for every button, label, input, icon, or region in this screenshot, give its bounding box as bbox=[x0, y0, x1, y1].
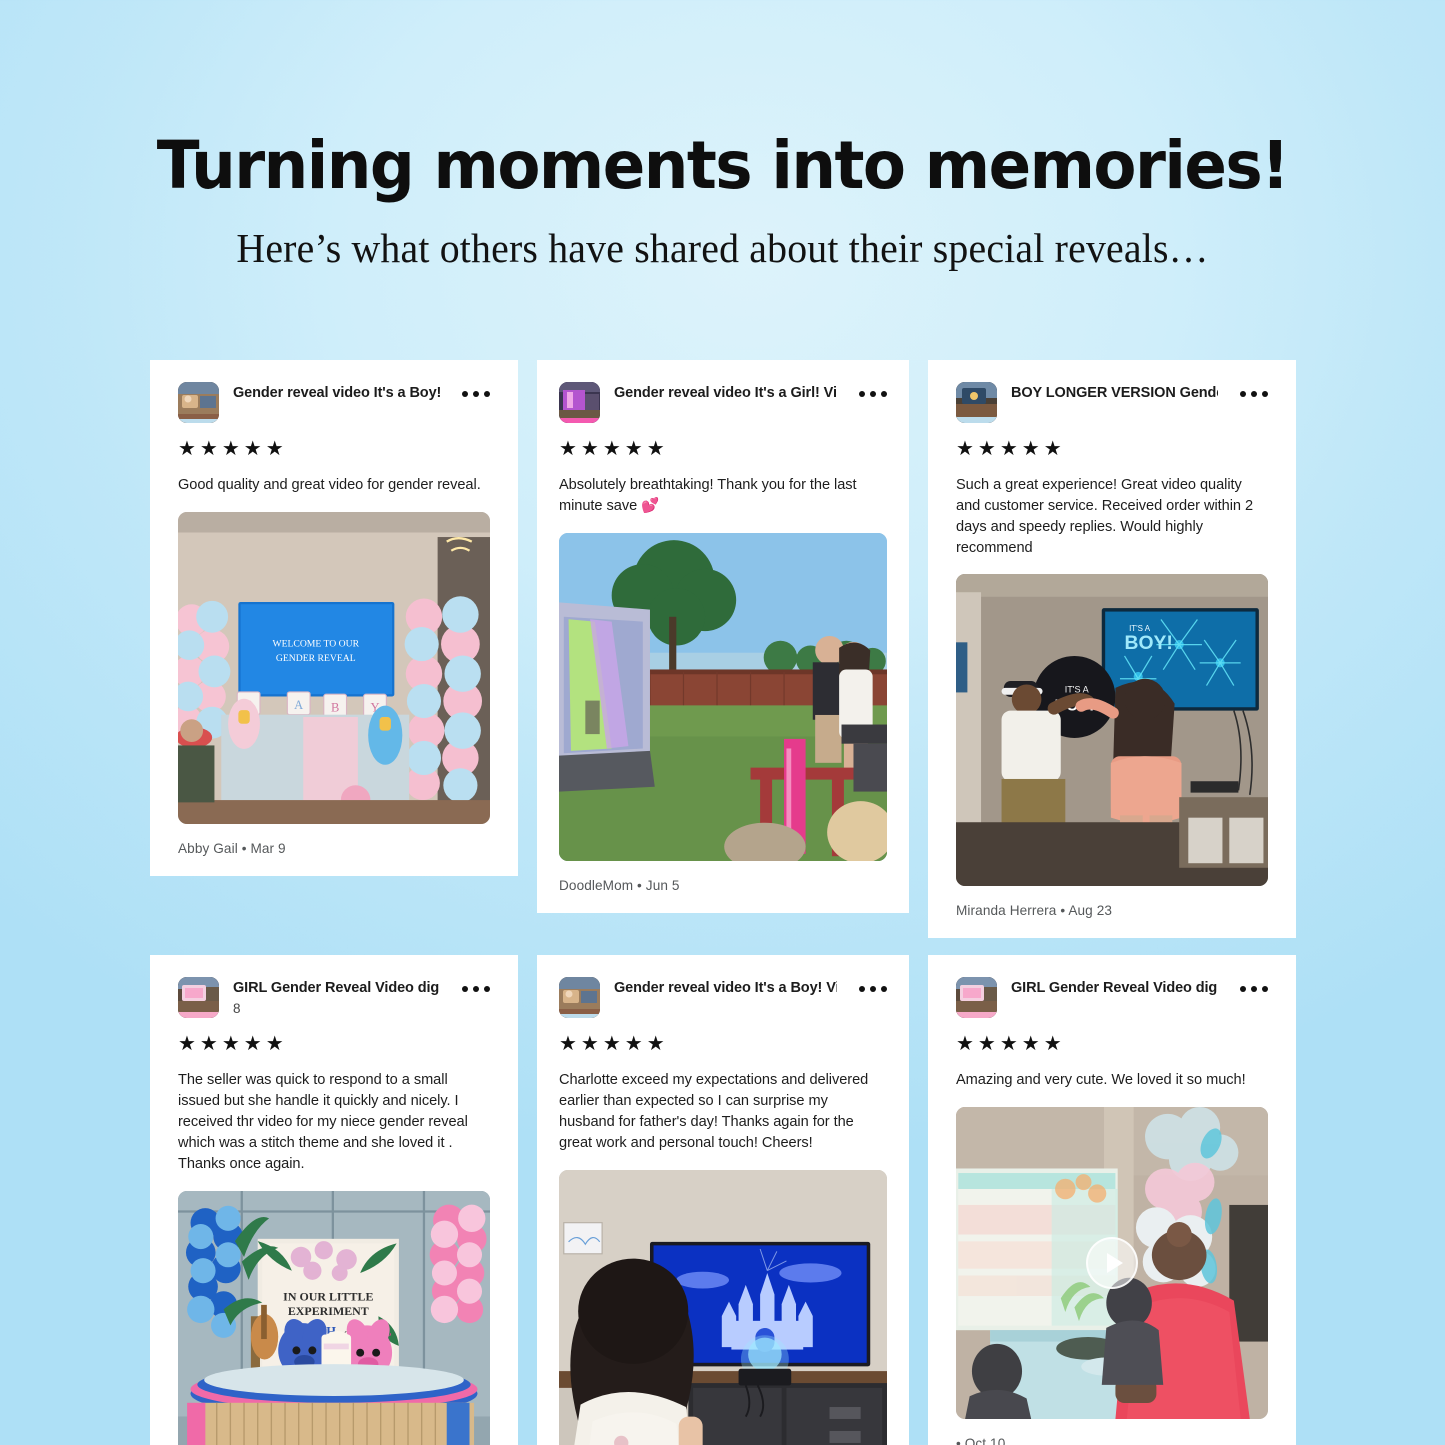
review-byline: • Oct 10 bbox=[956, 1436, 1268, 1445]
listing-thumbnail[interactable] bbox=[956, 382, 997, 423]
review-text: Absolutely breathtaking! Thank you for t… bbox=[559, 475, 887, 517]
more-horizontal-icon[interactable] bbox=[462, 382, 490, 397]
review-card-header: BOY LONGER VERSION Gender … bbox=[956, 382, 1268, 423]
rating-stars: ★★★★★ bbox=[559, 439, 887, 459]
listing-thumbnail[interactable] bbox=[178, 977, 219, 1018]
listing-info: Gender reveal video It's a Boy! Vide… bbox=[614, 977, 837, 996]
rating-stars: ★★★★★ bbox=[956, 439, 1268, 459]
review-photo[interactable]: WELCOME TO OUR GENDER REVEAL bbox=[178, 512, 490, 824]
reviews-grid: Gender reveal video It's a Boy! Vide… ★★… bbox=[150, 360, 1296, 1445]
more-horizontal-icon[interactable] bbox=[1240, 977, 1268, 992]
listing-thumbnail-image bbox=[559, 977, 600, 1018]
listing-info: Gender reveal video It's a Boy! Vide… bbox=[233, 382, 440, 401]
listing-thumbnail[interactable] bbox=[559, 382, 600, 423]
page-title: Turning moments into memories! bbox=[36, 131, 1409, 201]
review-card[interactable]: GIRL Gender Reveal Video digital … 8 ★★★… bbox=[150, 955, 518, 1445]
listing-title: GIRL Gender Reveal Video digital … bbox=[233, 980, 440, 996]
review-photo[interactable] bbox=[559, 533, 887, 861]
rating-stars: ★★★★★ bbox=[178, 439, 490, 459]
review-card[interactable]: Gender reveal video It's a Boy! Vide… ★★… bbox=[537, 955, 909, 1445]
svg-text:WELCOME TO OUR: WELCOME TO OUR bbox=[272, 638, 359, 649]
listing-info: GIRL Gender Reveal Video digital … 8 bbox=[233, 977, 440, 1016]
review-card-header: GIRL Gender Reveal Video digital … 8 bbox=[178, 977, 490, 1018]
review-text: Good quality and great video for gender … bbox=[178, 475, 490, 496]
review-text: Such a great experience! Great video qua… bbox=[956, 475, 1268, 558]
review-photo[interactable]: IT'S A BOY! IT'S A BOY! bbox=[956, 574, 1268, 886]
svg-text:BOY!: BOY! bbox=[1125, 633, 1173, 655]
review-card-header: Gender reveal video It's a Boy! Vide… bbox=[178, 382, 490, 423]
page-header: Turning moments into memories! Here’s wh… bbox=[0, 0, 1445, 271]
listing-thumbnail-image bbox=[559, 382, 600, 423]
more-horizontal-icon[interactable] bbox=[1240, 382, 1268, 397]
listing-title: BOY LONGER VERSION Gender … bbox=[1011, 385, 1218, 401]
review-card[interactable]: Gender reveal video It's a Boy! Vide… ★★… bbox=[150, 360, 518, 876]
svg-text:IT'S A: IT'S A bbox=[1065, 685, 1090, 695]
svg-text:B: B bbox=[331, 700, 339, 714]
more-horizontal-icon[interactable] bbox=[859, 977, 887, 992]
listing-thumbnail[interactable] bbox=[178, 382, 219, 423]
svg-text:GENDER REVEAL: GENDER REVEAL bbox=[276, 653, 356, 664]
listing-info: BOY LONGER VERSION Gender … bbox=[1011, 382, 1218, 401]
review-card[interactable]: Gender reveal video It's a Girl! Vide… ★… bbox=[537, 360, 909, 913]
review-photo-image bbox=[559, 533, 887, 861]
review-card-header: Gender reveal video It's a Boy! Vide… bbox=[559, 977, 887, 1018]
rating-stars: ★★★★★ bbox=[178, 1034, 490, 1054]
review-photo-image: IN OUR LITTLE EXPERIMENT STITCH or ANGEL bbox=[178, 1191, 490, 1445]
rating-stars: ★★★★★ bbox=[956, 1034, 1268, 1054]
svg-text:IN OUR LITTLE: IN OUR LITTLE bbox=[283, 1289, 373, 1303]
more-horizontal-icon[interactable] bbox=[462, 977, 490, 992]
page-subtitle: Here’s what others have shared about the… bbox=[22, 226, 1424, 271]
listing-thumbnail-image bbox=[956, 382, 997, 423]
listing-thumbnail-image bbox=[178, 382, 219, 423]
review-photo-image: IT'S A BOY! IT'S A BOY! bbox=[956, 574, 1268, 886]
review-card[interactable]: BOY LONGER VERSION Gender … ★★★★★ Such a… bbox=[928, 360, 1296, 938]
listing-thumbnail[interactable] bbox=[559, 977, 600, 1018]
listing-info: GIRL Gender Reveal Video digital … bbox=[1011, 977, 1218, 996]
review-photo-image bbox=[559, 1170, 887, 1445]
review-text: The seller was quick to respond to a sma… bbox=[178, 1070, 490, 1174]
review-text: Amazing and very cute. We loved it so mu… bbox=[956, 1070, 1268, 1091]
rating-stars: ★★★★★ bbox=[559, 1034, 887, 1054]
review-byline: Miranda Herrera • Aug 23 bbox=[956, 903, 1268, 918]
listing-subtitle: 8 bbox=[233, 1001, 440, 1016]
listing-title: Gender reveal video It's a Girl! Vide… bbox=[614, 385, 837, 401]
play-icon[interactable] bbox=[1086, 1237, 1138, 1289]
listing-thumbnail-image bbox=[956, 977, 997, 1018]
listing-info: Gender reveal video It's a Girl! Vide… bbox=[614, 382, 837, 401]
listing-thumbnail[interactable] bbox=[956, 977, 997, 1018]
review-card[interactable]: GIRL Gender Reveal Video digital … ★★★★★… bbox=[928, 955, 1296, 1445]
review-photo[interactable] bbox=[559, 1170, 887, 1445]
review-photo-video[interactable] bbox=[956, 1107, 1268, 1419]
review-text: Charlotte exceed my expectations and del… bbox=[559, 1070, 887, 1153]
review-byline: DoodleMom • Jun 5 bbox=[559, 878, 887, 893]
svg-text:A: A bbox=[294, 698, 303, 712]
svg-text:EXPERIMENT: EXPERIMENT bbox=[288, 1304, 369, 1318]
listing-title: GIRL Gender Reveal Video digital … bbox=[1011, 980, 1218, 996]
review-photo[interactable]: IN OUR LITTLE EXPERIMENT STITCH or ANGEL bbox=[178, 1191, 490, 1445]
listing-title: Gender reveal video It's a Boy! Vide… bbox=[614, 980, 837, 996]
review-photo-image: WELCOME TO OUR GENDER REVEAL bbox=[178, 512, 490, 824]
review-card-header: Gender reveal video It's a Girl! Vide… bbox=[559, 382, 887, 423]
listing-title: Gender reveal video It's a Boy! Vide… bbox=[233, 385, 440, 401]
review-byline: Abby Gail • Mar 9 bbox=[178, 841, 490, 856]
more-horizontal-icon[interactable] bbox=[859, 382, 887, 397]
review-card-header: GIRL Gender Reveal Video digital … bbox=[956, 977, 1268, 1018]
listing-thumbnail-image bbox=[178, 977, 219, 1018]
